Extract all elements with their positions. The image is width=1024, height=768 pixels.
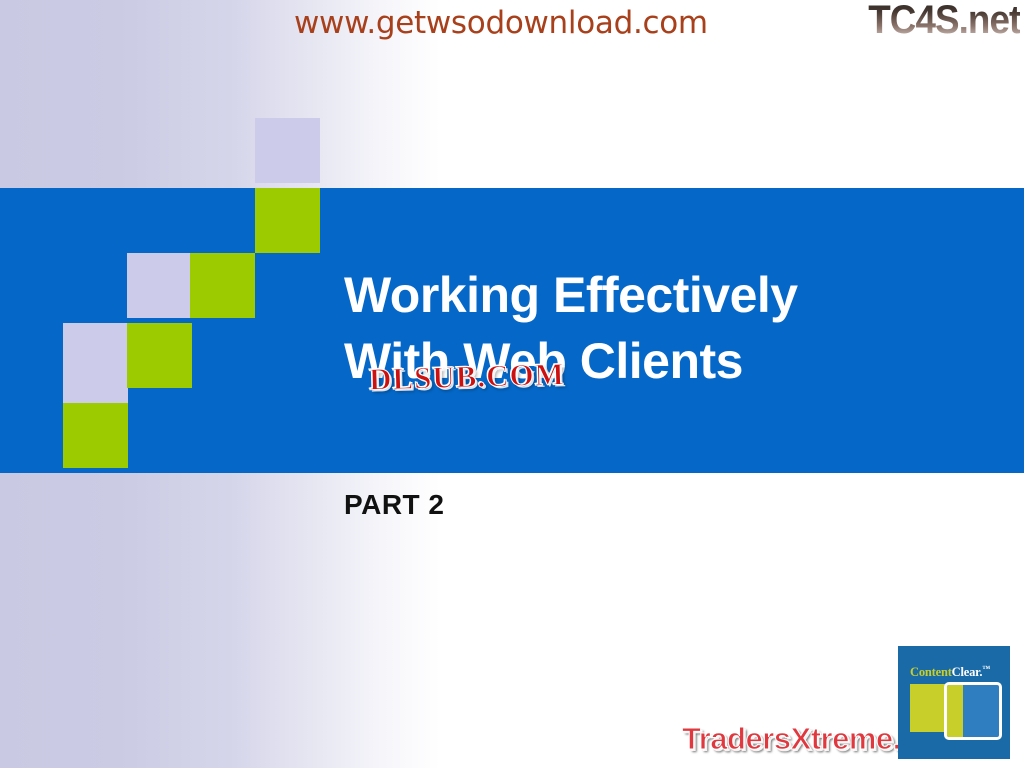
slide-canvas: Working Effectively With Web Clients PAR… [0, 0, 1024, 768]
contentclear-wordmark: ContentClear.™ [910, 664, 990, 680]
mosaic-tile-green-4 [63, 403, 128, 468]
slide-subtitle: PART 2 [344, 489, 445, 521]
watermark-dlsub: DLSUB.COM [369, 356, 566, 397]
mosaic-tile-green-3 [127, 323, 192, 388]
mosaic-tile-lavender-3 [127, 253, 192, 318]
logo-framed-block [944, 682, 1002, 740]
watermark-tc4s: TC4S.net [868, 0, 1020, 43]
mosaic-tile-green-1 [255, 188, 320, 253]
contentclear-logo: ContentClear.™ [898, 646, 1010, 759]
logo-word-content: Content [910, 665, 952, 679]
mosaic-tile-lavender-1 [255, 118, 320, 183]
mosaic-tile-lavender-5 [63, 388, 128, 403]
mosaic-tile-blue-1 [0, 258, 65, 323]
logo-word-clear: Clear [952, 665, 980, 679]
logo-frame-green-stripe [947, 685, 963, 737]
logo-trademark-icon: ™ [982, 664, 990, 673]
mosaic-tile-green-2 [190, 253, 255, 318]
mosaic-tile-lavender-4 [63, 323, 128, 388]
watermark-getwsodownload: www.getwsodownload.com [294, 5, 708, 41]
